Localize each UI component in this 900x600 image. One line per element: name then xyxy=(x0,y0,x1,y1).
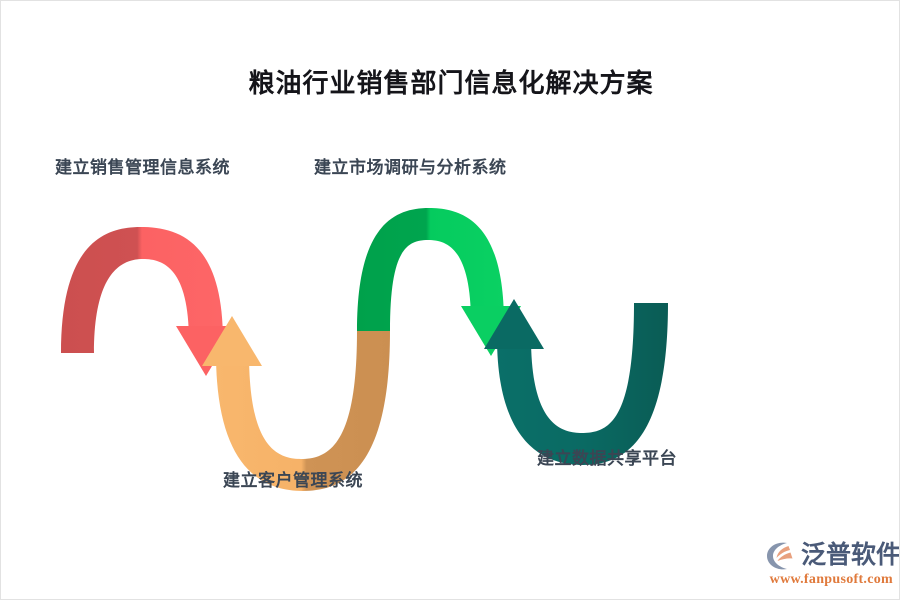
wave-process-flow-diagram xyxy=(1,1,900,600)
flow-step-2-orange-valley xyxy=(202,316,390,491)
logo-website-url: www.fanpusoft.com xyxy=(765,572,893,588)
logo-company-name: 泛普软件 xyxy=(801,543,900,568)
fanpu-logo-mark-icon xyxy=(765,540,798,571)
logo-row: 泛普软件 xyxy=(765,539,893,571)
step-label-market-research: 建立市场调研与分析系统 xyxy=(314,153,507,178)
step-label-customer-management: 建立客户管理系统 xyxy=(223,466,363,491)
flow-step-4-teal-valley xyxy=(484,299,668,465)
step-label-sales-management: 建立销售管理信息系统 xyxy=(55,153,230,178)
brand-logo: 泛普软件 www.fanpusoft.com xyxy=(765,539,893,589)
step-label-data-sharing-platform: 建立数据共享平台 xyxy=(537,444,677,469)
diagram-canvas: 粮油行业销售部门信息化解决方案 xyxy=(0,0,900,600)
